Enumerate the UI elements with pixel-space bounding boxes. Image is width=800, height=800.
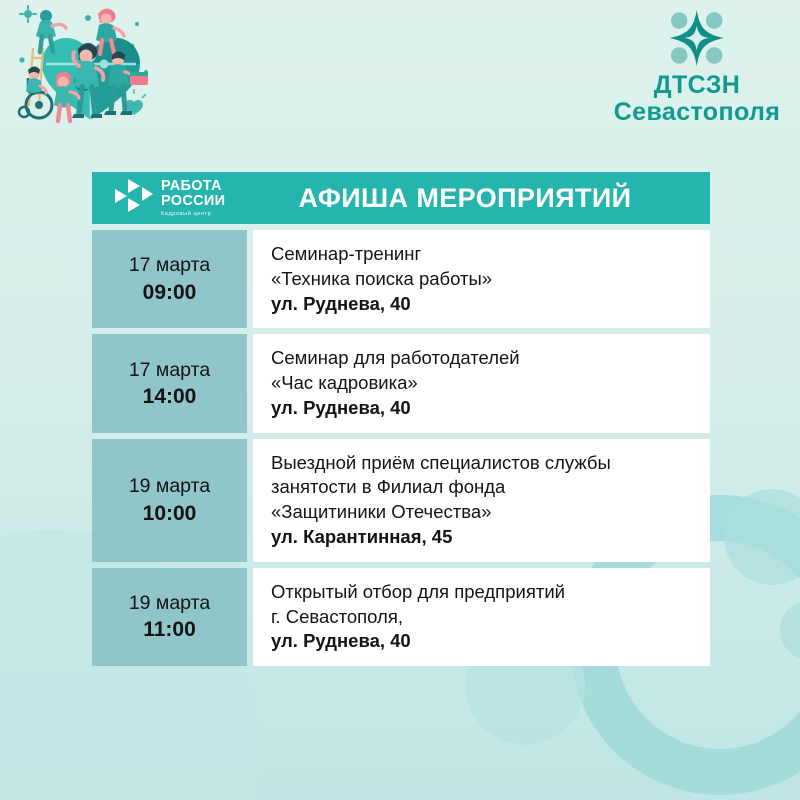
event-line: Семинар для работодателей — [271, 346, 692, 371]
event-time: 10:00 — [143, 500, 197, 527]
event-line: Семинар-тренинг — [271, 242, 692, 267]
events-list: 17 марта 09:00 Семинар-тренинг «Техника … — [92, 230, 710, 666]
event-details-cell: Семинар-тренинг «Техника поиска работы» … — [253, 230, 710, 328]
event-line: занятости в Филиал фонда — [271, 475, 692, 500]
heart-puzzle-teamwork-illustration — [6, 2, 176, 130]
event-date: 19 марта — [129, 473, 210, 499]
event-time: 09:00 — [143, 279, 197, 306]
dtszn-brand: ДТСЗН Севастополя — [602, 4, 792, 125]
page-title: АФИША МЕРОПРИЯТИЙ — [244, 183, 710, 214]
arrows-logo-icon — [114, 178, 154, 218]
event-date: 17 марта — [129, 357, 210, 383]
event-address: ул. Руднева, 40 — [271, 292, 692, 317]
event-address: ул. Карантинная, 45 — [271, 525, 692, 550]
table-row: 17 марта 14:00 Семинар для работодателей… — [92, 334, 710, 432]
four-point-star-icon — [653, 4, 740, 72]
event-time: 14:00 — [143, 383, 197, 410]
poster-canvas: ДТСЗН Севастополя РАБОТА РОССИИ Кадровый… — [0, 0, 800, 800]
event-line: г. Севастополя, — [271, 605, 692, 630]
event-date: 17 марта — [129, 252, 210, 278]
table-header: РАБОТА РОССИИ Кадровый центр АФИША МЕРОП… — [92, 172, 710, 224]
event-line: Открытый отбор для предприятий — [271, 580, 692, 605]
event-when-cell: 17 марта 09:00 — [92, 230, 247, 328]
event-line: Выездной приём специалистов службы — [271, 451, 692, 476]
event-when-cell: 19 марта 11:00 — [92, 568, 247, 666]
event-address: ул. Руднева, 40 — [271, 629, 692, 654]
rabota-rossii-wordmark: РАБОТА РОССИИ Кадровый центр — [161, 179, 225, 218]
event-date: 19 марта — [129, 590, 210, 616]
event-line: «Защитиники Отечества» — [271, 500, 692, 525]
event-time: 11:00 — [143, 616, 196, 643]
decorative-circle-right — [724, 489, 800, 585]
event-when-cell: 17 марта 14:00 — [92, 334, 247, 432]
event-details-cell: Семинар для работодателей «Час кадровика… — [253, 334, 710, 432]
logo-word-2: РОССИИ — [161, 194, 225, 209]
brand-line-2: Севастополя — [602, 99, 792, 126]
event-address: ул. Руднева, 40 — [271, 396, 692, 421]
event-details-cell: Выездной приём специалистов службы занят… — [253, 439, 710, 562]
brand-line-1: ДТСЗН — [602, 72, 792, 99]
rabota-rossii-logo: РАБОТА РОССИИ Кадровый центр — [114, 178, 244, 218]
event-line: «Час кадровика» — [271, 371, 692, 396]
table-row: 17 марта 09:00 Семинар-тренинг «Техника … — [92, 230, 710, 328]
events-schedule-table: РАБОТА РОССИИ Кадровый центр АФИША МЕРОП… — [92, 172, 710, 672]
event-line: «Техника поиска работы» — [271, 267, 692, 292]
logo-word-1: РАБОТА — [161, 179, 225, 194]
event-details-cell: Открытый отбор для предприятий г. Севаст… — [253, 568, 710, 666]
decorative-circle-right-edge — [780, 600, 800, 660]
event-when-cell: 19 марта 10:00 — [92, 439, 247, 562]
table-row: 19 марта 11:00 Открытый отбор для предпр… — [92, 568, 710, 666]
logo-subtitle: Кадровый центр — [161, 212, 225, 218]
table-row: 19 марта 10:00 Выездной приём специалист… — [92, 439, 710, 562]
